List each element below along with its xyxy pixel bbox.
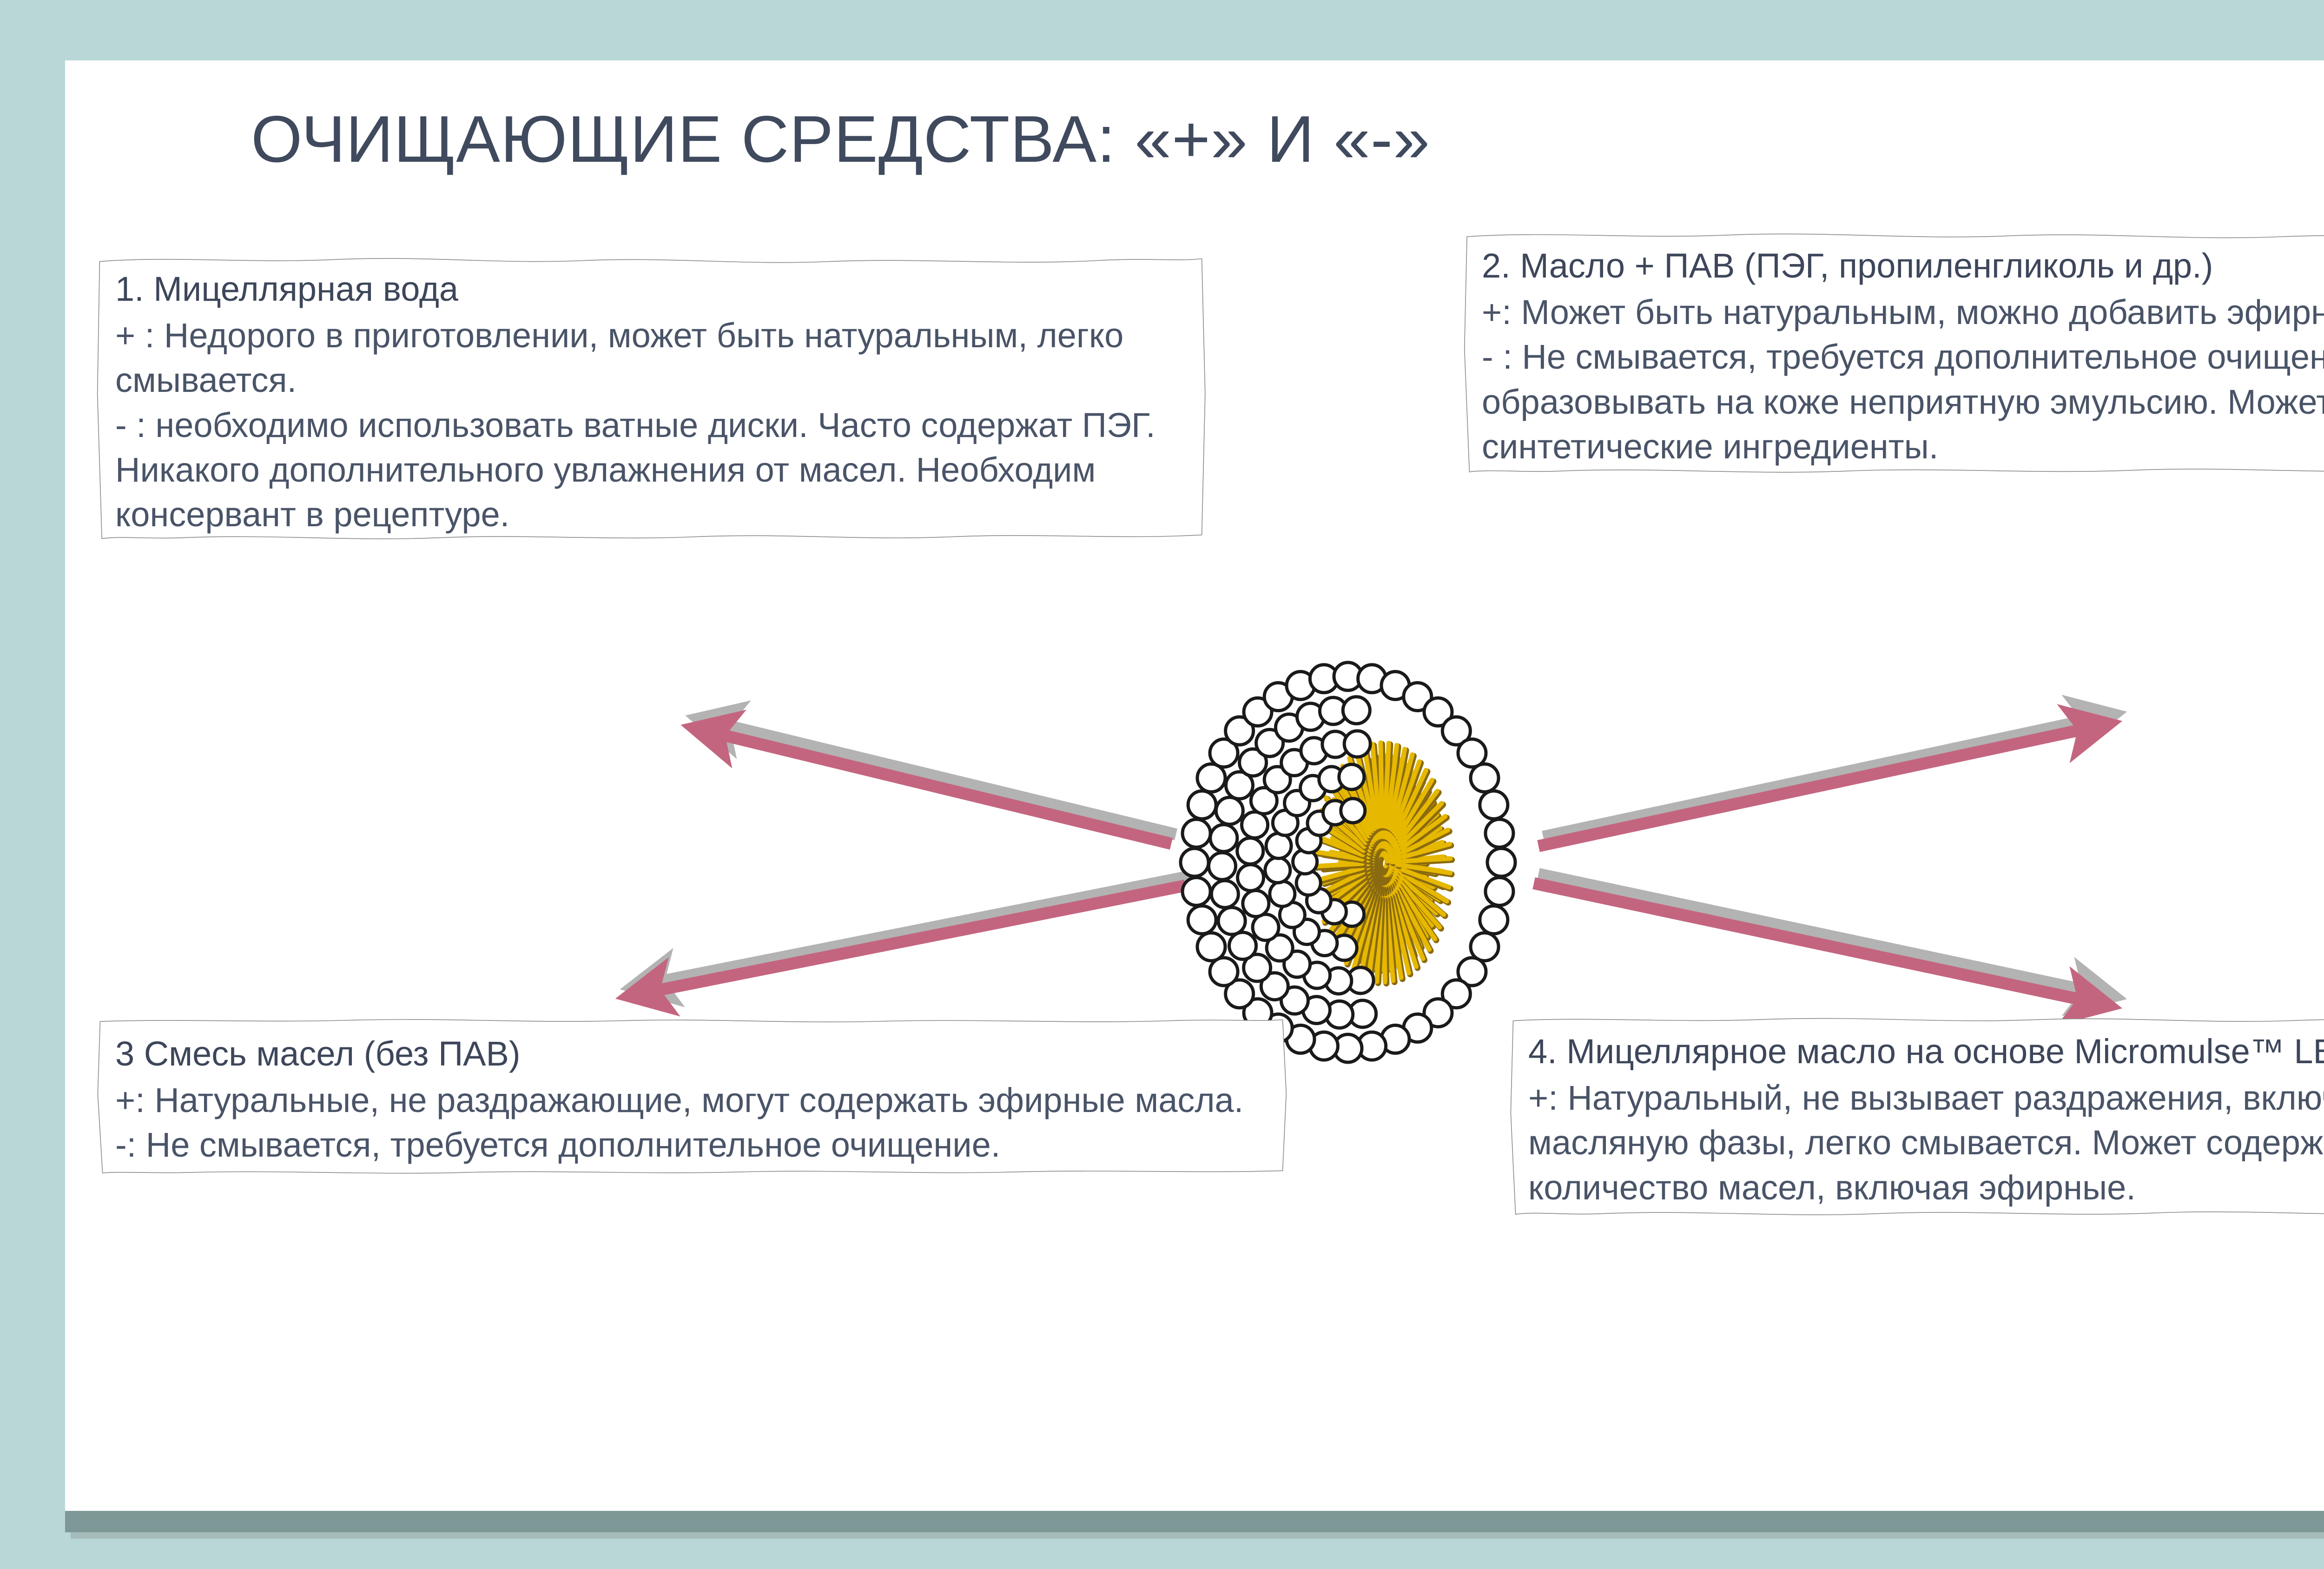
box-line: -: Не смывается, требуется дополнительно… [115,1123,1270,1167]
slide-root: ОЧИЩАЮЩИЕ СРЕДСТВА: «+» И «-» [0,0,2324,1569]
micelle-diagram [1167,658,1529,1067]
box-line: - : необходимо использовать ватные диски… [115,403,1189,537]
box-line: +: Натуральные, не раздражающие, могут с… [115,1078,1270,1123]
slide-accent-bar [65,1511,2324,1532]
page-title: ОЧИЩАЮЩИЕ СРЕДСТВА: «+» И «-» [251,101,1430,178]
box-line: - : Не смывается, требуется дополнительн… [1482,335,2324,469]
box-title: 2. Масло + ПАВ (ПЭГ, пропиленгликоль и д… [1482,244,2324,288]
info-box-micellar-water: 1. Мицеллярная вода + : Недорого в приго… [93,251,1208,546]
box-line: + : Недорого в приготовлении, может быть… [115,313,1189,403]
slide-accent-bar-shadow [71,1532,2324,1539]
info-box-micellar-oil: 4. Мицеллярное масло на основе Micromuls… [1506,1013,2324,1219]
box-title: 4. Мицеллярное масло на основе Micromuls… [1528,1029,2324,1074]
box-line: +: Может быть натуральным, можно добавит… [1482,290,2324,335]
info-box-oil-plus-surfactant: 2. Масло + ПАВ (ПЭГ, пропиленгликоль и д… [1459,228,2324,478]
info-box-oil-blend: 3 Смесь масел (без ПАВ) +: Натуральные, … [93,1016,1290,1177]
box-title: 3 Смесь масел (без ПАВ) [115,1032,1270,1076]
box-title: 1. Мицеллярная вода [115,267,1189,311]
box-line: +: Натуральный, не вызывает раздражения,… [1528,1076,2324,1210]
